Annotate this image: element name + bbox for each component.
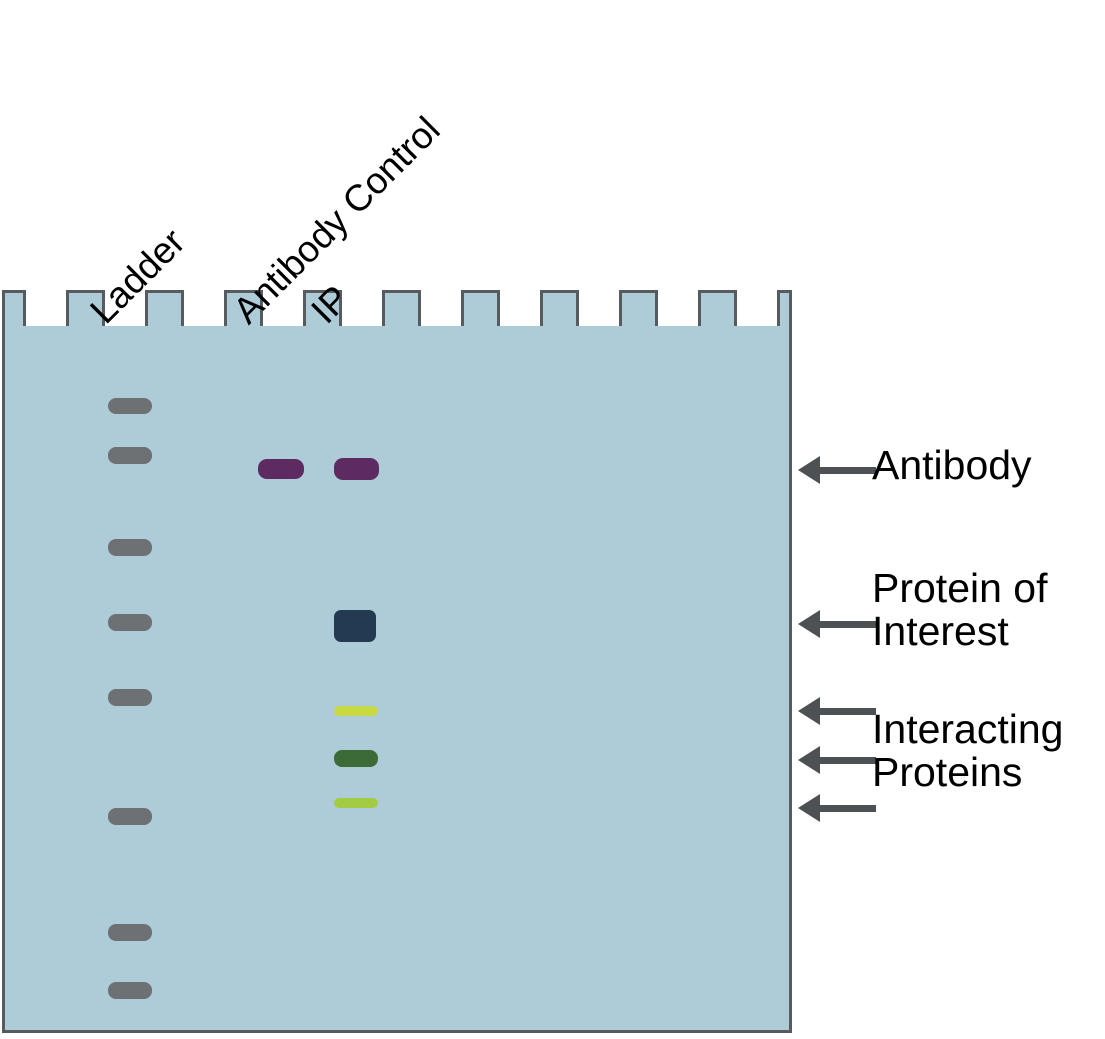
annotation-interacting-proteins-label: InteractingProteins xyxy=(872,708,1063,794)
annotation-interacting-proteins-arrow-icon-2 xyxy=(798,753,876,767)
gel-comb-tooth xyxy=(461,290,500,330)
gel-comb-tooth xyxy=(145,290,184,330)
ip-interacting-band-2 xyxy=(334,750,378,767)
ip-interacting-band-1 xyxy=(334,706,378,716)
gel-well-8[interactable] xyxy=(579,290,619,330)
ladder-band-3 xyxy=(108,539,152,556)
arrow-shaft xyxy=(816,805,876,812)
gel-well-3[interactable] xyxy=(184,290,224,330)
gel-well-9[interactable] xyxy=(658,290,698,330)
ladder-band-1 xyxy=(108,398,152,414)
gel-well-6[interactable] xyxy=(421,290,461,330)
ladder-band-7 xyxy=(108,924,152,941)
annotation-antibody-arrow-icon-1 xyxy=(798,463,876,477)
ladder-band-2 xyxy=(108,447,152,464)
arrow-shaft xyxy=(816,621,876,628)
ladder-band-6 xyxy=(108,808,152,825)
gel-comb-tooth xyxy=(698,290,737,330)
annotation-interacting-proteins-arrow-icon-1 xyxy=(798,704,876,718)
annotation-protein-of-interest-arrow-icon-1 xyxy=(798,617,876,631)
annotation-protein-of-interest-label-line: Protein of xyxy=(872,567,1048,610)
ladder-band-8 xyxy=(108,982,152,999)
gel-comb-tooth xyxy=(777,290,793,330)
arrow-shaft xyxy=(816,708,876,715)
annotation-protein-of-interest-label-line: Interest xyxy=(872,610,1048,653)
gel-figure: Ladder Antibody Control IP AntibodyProte… xyxy=(0,0,1105,1039)
arrow-shaft xyxy=(816,467,876,474)
ladder-band-4 xyxy=(108,614,152,631)
annotation-antibody-label-line: Antibody xyxy=(872,444,1032,487)
gel-well-10[interactable] xyxy=(737,290,777,330)
ip-antibody-band xyxy=(334,458,379,480)
annotation-interacting-proteins-label-line: Proteins xyxy=(872,751,1063,794)
arrow-shaft xyxy=(816,757,876,764)
ip-interacting-band-3 xyxy=(334,798,378,808)
annotation-interacting-proteins-arrow-icon-3 xyxy=(798,801,876,815)
ip-protein-of-interest-band xyxy=(334,610,376,642)
gel-comb-tooth xyxy=(540,290,579,330)
annotation-protein-of-interest-label: Protein ofInterest xyxy=(872,567,1048,653)
gel-comb-tooth xyxy=(382,290,421,330)
gel-comb-tooth xyxy=(2,290,26,330)
control-antibody-band xyxy=(258,459,304,479)
gel-comb-tooth xyxy=(619,290,658,330)
annotation-interacting-proteins-label-line: Interacting xyxy=(872,708,1063,751)
gel-well-1[interactable] xyxy=(26,290,66,330)
gel-well-7[interactable] xyxy=(500,290,540,330)
ladder-band-5 xyxy=(108,689,152,706)
annotation-antibody-label: Antibody xyxy=(872,444,1032,487)
